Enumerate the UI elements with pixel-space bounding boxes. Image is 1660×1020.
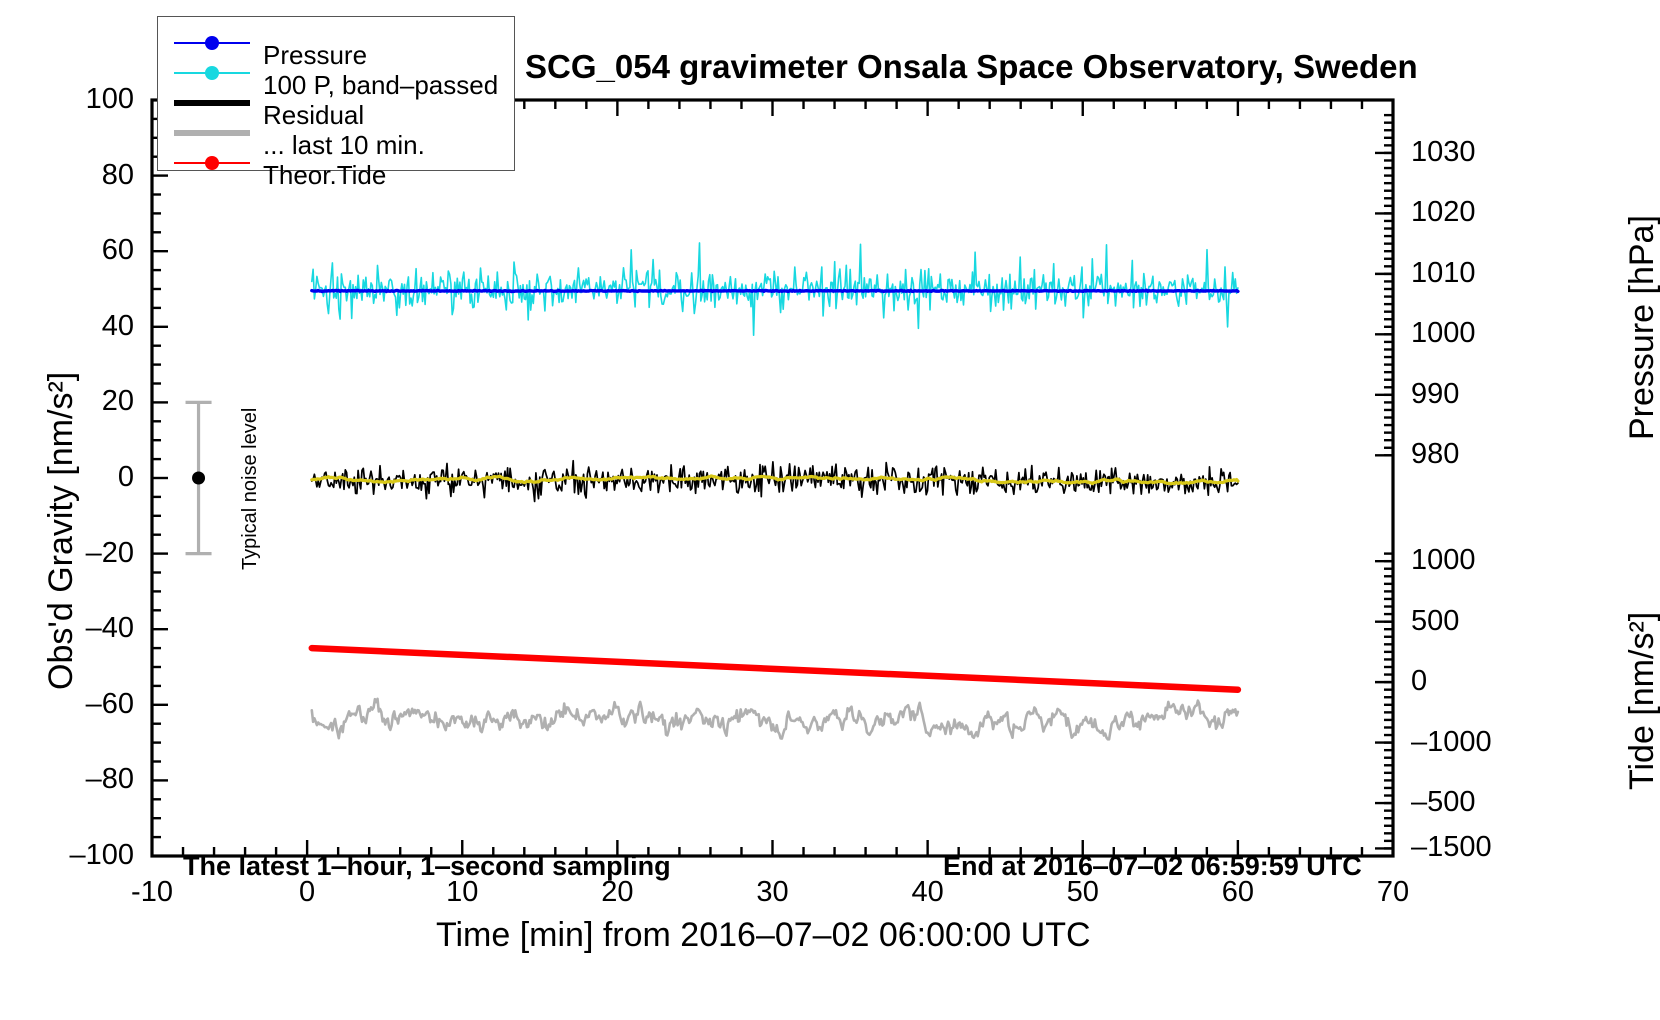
noise-level-label: Typical noise level xyxy=(240,408,260,570)
tick-label: -10 xyxy=(112,878,192,907)
tick-label: 40 xyxy=(0,312,134,341)
tick-label: ‒20 xyxy=(0,539,134,568)
tick-label: ‒1500 xyxy=(1411,833,1492,862)
tick-label: 1030 xyxy=(1411,138,1476,167)
noise-bar-center-dot xyxy=(192,472,205,485)
series-pressure xyxy=(312,290,1238,291)
series-theor-tide xyxy=(312,648,1238,690)
chart-title: SCG_054 gravimeter Onsala Space Observat… xyxy=(525,50,1418,83)
tick-label: 40 xyxy=(888,878,968,907)
tick-label: 20 xyxy=(577,878,657,907)
tick-label: 1010 xyxy=(1411,259,1476,288)
tick-label: ‒100 xyxy=(0,841,134,870)
legend-label-bandpassed: 100 P, band‒passed xyxy=(263,72,498,98)
tick-label: ‒1000 xyxy=(1411,728,1492,757)
tick-label: 1000 xyxy=(1411,546,1476,575)
tick-label: 0 xyxy=(267,878,347,907)
tick-label: 60 xyxy=(1198,878,1278,907)
y-axis-title-tide: Tide [nm/s²] xyxy=(1625,612,1659,790)
tick-label: ‒40 xyxy=(0,614,134,643)
y-axis-title-pressure: Pressure [hPa] xyxy=(1625,215,1659,440)
tick-label: 70 xyxy=(1353,878,1433,907)
tick-label: 500 xyxy=(1411,607,1459,636)
tick-label: 0 xyxy=(1411,667,1427,696)
legend-label-last10min: ... last 10 min. xyxy=(263,132,425,158)
legend-marker-0 xyxy=(205,36,219,50)
series-last-10-min xyxy=(312,699,1238,740)
tick-label: 990 xyxy=(1411,380,1459,409)
tick-label: 10 xyxy=(422,878,502,907)
sampling-note: The latest 1‒hour, 1‒second sampling xyxy=(183,853,671,880)
tick-label: 60 xyxy=(0,236,134,265)
tick-label: 0 xyxy=(0,463,134,492)
legend-label-pressure: Pressure xyxy=(263,42,367,68)
tick-label: 1000 xyxy=(1411,319,1476,348)
legend-label-theortide: Theor.Tide xyxy=(263,162,386,188)
tick-label: 100 xyxy=(0,85,134,114)
tick-label: 80 xyxy=(0,161,134,190)
legend-label-residual: Residual xyxy=(263,102,364,128)
legend-marker-4 xyxy=(205,156,219,170)
chart-canvas: SCG_054 gravimeter Onsala Space Observat… xyxy=(0,0,1660,1020)
legend[interactable]: Pressure 100 P, band‒passed Residual ...… xyxy=(157,16,515,171)
tick-label: ‒500 xyxy=(1411,788,1476,817)
tick-label: ‒80 xyxy=(0,765,134,794)
end-time-note: End at 2016‒07‒02 06:59:59 UTC xyxy=(943,853,1362,880)
tick-label: ‒60 xyxy=(0,690,134,719)
tick-label: 980 xyxy=(1411,440,1459,469)
tick-label: 1020 xyxy=(1411,198,1476,227)
tick-label: 50 xyxy=(1043,878,1123,907)
tick-label: 20 xyxy=(0,387,134,416)
legend-marker-1 xyxy=(205,66,219,80)
x-axis-title: Time [min] from 2016‒07‒02 06:00:00 UTC xyxy=(436,918,1091,952)
tick-label: 30 xyxy=(733,878,813,907)
